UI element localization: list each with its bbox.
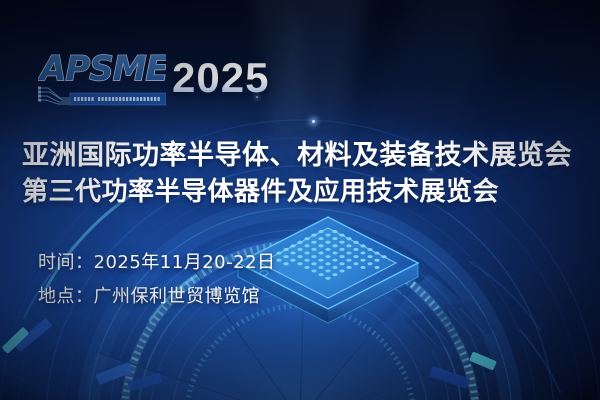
background-vignette <box>0 0 600 400</box>
exhibition-banner: APSME <box>0 0 600 400</box>
